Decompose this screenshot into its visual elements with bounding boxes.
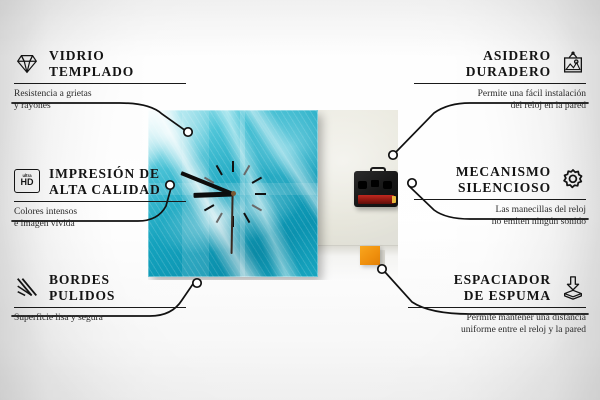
feature-header: ESPACIADOR DE ESPUMA xyxy=(408,272,586,303)
clock-center-hub xyxy=(231,191,236,196)
feature-title: MECANISMO SILENCIOSO xyxy=(456,164,551,195)
feature-description: Resistencia a grietas y rayones xyxy=(14,89,186,112)
feature-vidrio-templado[interactable]: VIDRIO TEMPLADO Resistencia a grietas y … xyxy=(14,48,186,113)
feature-rule xyxy=(414,199,586,200)
feature-description: Las manecillas del reloj no emiten ningú… xyxy=(414,205,586,228)
feature-title: IMPRESIÓN DE ALTA CALIDAD xyxy=(49,166,161,197)
feature-asidero-duradero[interactable]: ASIDERO DURADERO Permite una fácil insta… xyxy=(414,48,586,113)
feature-impresion-alta-calidad[interactable]: ultra HD IMPRESIÓN DE ALTA CALIDAD Color… xyxy=(14,166,186,231)
picture-frame-hanger-icon xyxy=(560,51,586,77)
battery xyxy=(358,195,394,204)
polished-edges-icon xyxy=(14,275,40,301)
feature-rule xyxy=(14,83,186,84)
feature-header: BORDES PULIDOS xyxy=(14,272,186,303)
infographic-canvas: VIDRIO TEMPLADO Resistencia a grietas y … xyxy=(0,0,600,400)
diamond-icon xyxy=(14,51,40,77)
feature-header: VIDRIO TEMPLADO xyxy=(14,48,186,79)
foam-spacer-pad xyxy=(360,246,380,265)
ultra-hd-badge-icon: ultra HD xyxy=(14,169,40,195)
feature-header: MECANISMO SILENCIOSO xyxy=(414,164,586,195)
feature-rule xyxy=(14,307,186,308)
clock-mechanism xyxy=(354,167,398,207)
feature-header: ultra HD IMPRESIÓN DE ALTA CALIDAD xyxy=(14,166,186,197)
feature-rule xyxy=(408,307,586,308)
feature-title: BORDES PULIDOS xyxy=(49,272,115,303)
feature-mecanismo-silencioso[interactable]: MECANISMO SILENCIOSO Las manecillas del … xyxy=(414,164,586,229)
feature-rule xyxy=(414,83,586,84)
mechanism-body xyxy=(354,171,398,207)
feature-description: Permite mantener una distancia uniforme … xyxy=(408,313,586,336)
feature-rule xyxy=(14,201,186,202)
feature-bordes-pulidos[interactable]: BORDES PULIDOS Superficie lisa y segura xyxy=(14,272,186,325)
feature-title: ASIDERO DURADERO xyxy=(466,48,551,79)
feature-title: ESPACIADOR DE ESPUMA xyxy=(454,272,551,303)
feature-description: Superficie lisa y segura xyxy=(14,313,186,325)
feature-description: Colores intensos e imagen vívida xyxy=(14,207,186,230)
feature-header: ASIDERO DURADERO xyxy=(414,48,586,79)
gear-icon xyxy=(560,167,586,193)
feature-espaciador-espuma[interactable]: ESPACIADOR DE ESPUMA Permite mantener un… xyxy=(408,272,586,337)
foam-spacer-arrow-icon xyxy=(560,275,586,301)
feature-description: Permite una fácil instalación del reloj … xyxy=(414,89,586,112)
feature-title: VIDRIO TEMPLADO xyxy=(49,48,134,79)
foam-spacer-side xyxy=(380,250,385,265)
